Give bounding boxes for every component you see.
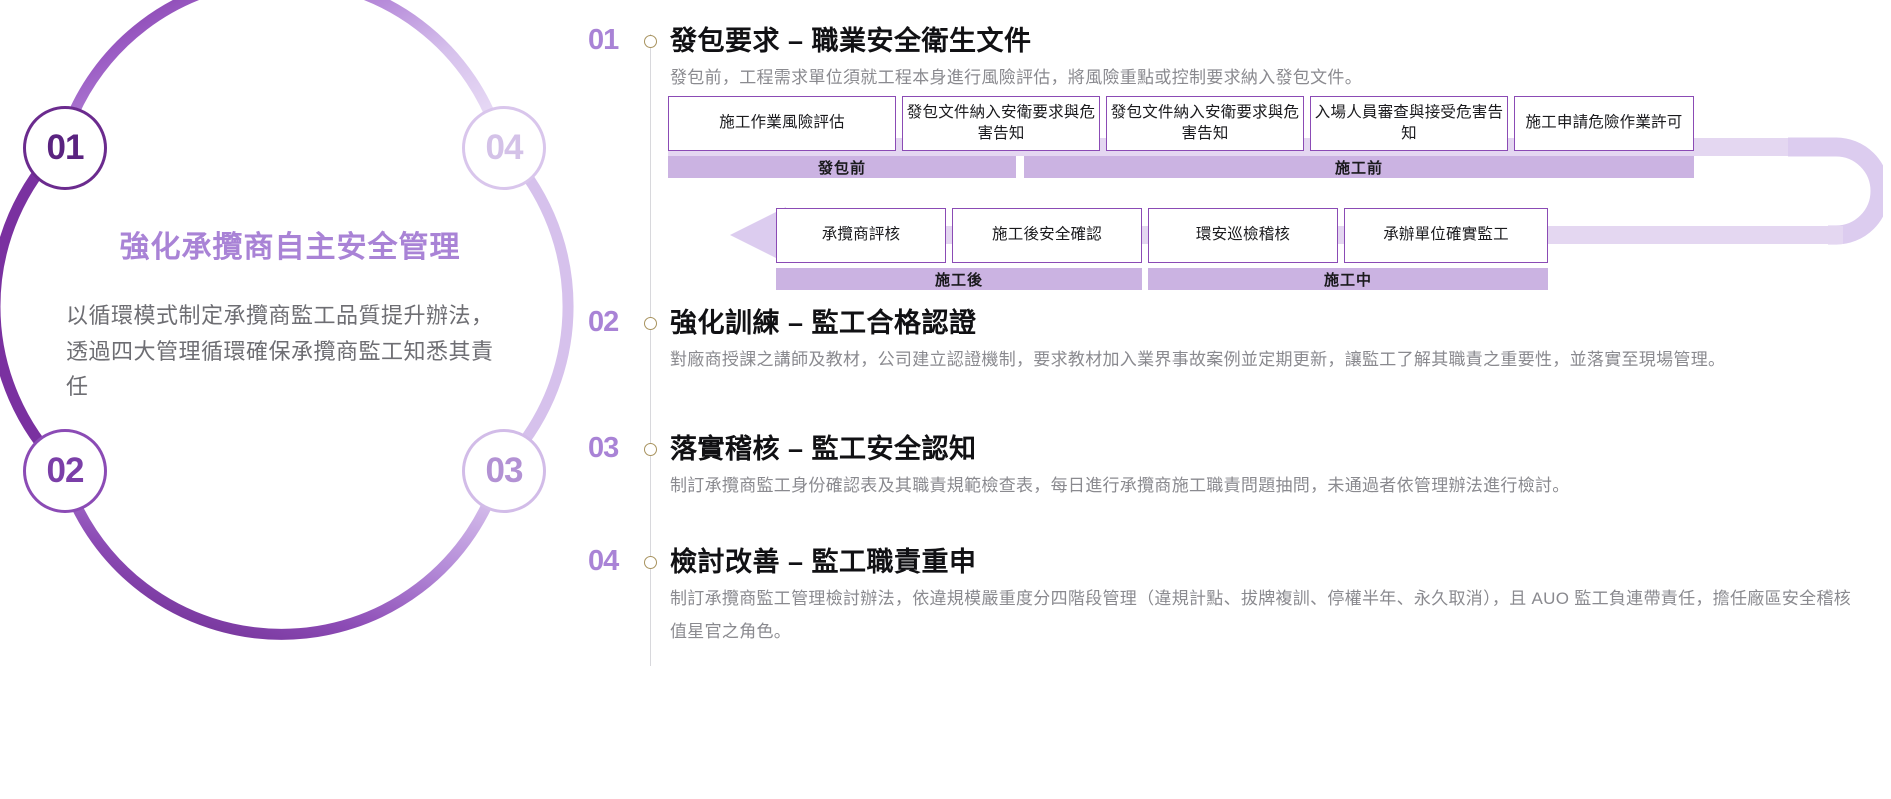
cycle-node-02[interactable]: 02: [23, 429, 107, 513]
section-01-title: 發包要求 – 職業安全衛生文件: [670, 19, 1032, 58]
cycle-node-01[interactable]: 01: [23, 106, 107, 190]
section-01-number: 01: [588, 24, 634, 57]
ring-bullet-icon: [644, 556, 657, 569]
section-04-title: 檢討改善 – 監工職責重申: [670, 540, 977, 579]
cycle-title: 強化承攬商自主安全管理: [50, 222, 530, 266]
section-04-body: 制訂承攬商監工管理檢討辦法，依違規模嚴重度分四階段管理（違規計點、拔牌複訓、停權…: [670, 583, 1860, 648]
flow-box-top-3[interactable]: 發包文件納入安衛要求與危害告知: [1106, 96, 1304, 151]
flow-box-top-2[interactable]: 發包文件納入安衛要求與危害告知: [902, 96, 1100, 151]
section-02-body: 對廠商授課之講師及教材，公司建立認證機制，要求教材加入業界事故案例並定期更新，讓…: [670, 344, 1860, 377]
section-01-body: 發包前，工程需求單位須就工程本身進行風險評估，將風險重點或控制要求納入發包文件。: [670, 62, 1860, 95]
cycle-node-01-label: 01: [47, 128, 84, 168]
contractor-flow-diagram: 施工作業風險評估 發包文件納入安衛要求與危害告知 發包文件納入安衛要求與危害告知…: [668, 96, 1883, 296]
ring-bullet-icon: [644, 35, 657, 48]
section-03-number: 03: [588, 432, 634, 465]
cycle-node-04-label: 04: [486, 128, 523, 168]
sections-list: 01 發包要求 – 職業安全衛生文件 發包前，工程需求單位須就工程本身進行風險評…: [588, 0, 1891, 799]
flow-box-top-4[interactable]: 入場人員審查與接受危害告知: [1310, 96, 1508, 151]
flow-band-after-work: 施工後: [776, 268, 1142, 290]
flow-box-bottom-4[interactable]: 承辦單位確實監工: [1344, 208, 1548, 263]
cycle-node-02-label: 02: [47, 451, 84, 491]
slide-canvas: 01 04 02 03 強化承攬商自主安全管理 以循環模式制定承攬商監工品質提升…: [0, 0, 1891, 799]
section-02-number: 02: [588, 306, 634, 339]
flow-box-bottom-1[interactable]: 承攬商評核: [776, 208, 946, 263]
section-03-title: 落實稽核 – 監工安全認知: [670, 427, 977, 466]
section-connector-line: [650, 34, 651, 666]
flow-box-top-5[interactable]: 施工申請危險作業許可: [1514, 96, 1694, 151]
flow-box-bottom-2[interactable]: 施工後安全確認: [952, 208, 1142, 263]
flow-band-before-bid: 發包前: [668, 156, 1016, 178]
section-02-title: 強化訓練 – 監工合格認證: [670, 301, 977, 340]
flow-band-during-work: 施工中: [1148, 268, 1548, 290]
ring-bullet-icon: [644, 317, 657, 330]
section-04-number: 04: [588, 545, 634, 578]
flow-box-bottom-3[interactable]: 環安巡檢稽核: [1148, 208, 1338, 263]
section-03-body: 制訂承攬商監工身份確認表及其職責規範檢查表，每日進行承攬商施工職責問題抽問，未通…: [670, 470, 1860, 503]
flow-box-top-1[interactable]: 施工作業風險評估: [668, 96, 896, 151]
flow-band-before-work: 施工前: [1024, 156, 1694, 178]
ring-bullet-icon: [644, 443, 657, 456]
cycle-node-03[interactable]: 03: [462, 429, 546, 513]
cycle-diagram: 01 04 02 03 強化承攬商自主安全管理 以循環模式制定承攬商監工品質提升…: [0, 0, 580, 799]
cycle-node-03-label: 03: [486, 451, 523, 491]
cycle-description: 以循環模式制定承攬商監工品質提升辦法，透過四大管理循環確保承攬商監工知悉其責任: [66, 298, 496, 405]
cycle-node-04[interactable]: 04: [462, 106, 546, 190]
